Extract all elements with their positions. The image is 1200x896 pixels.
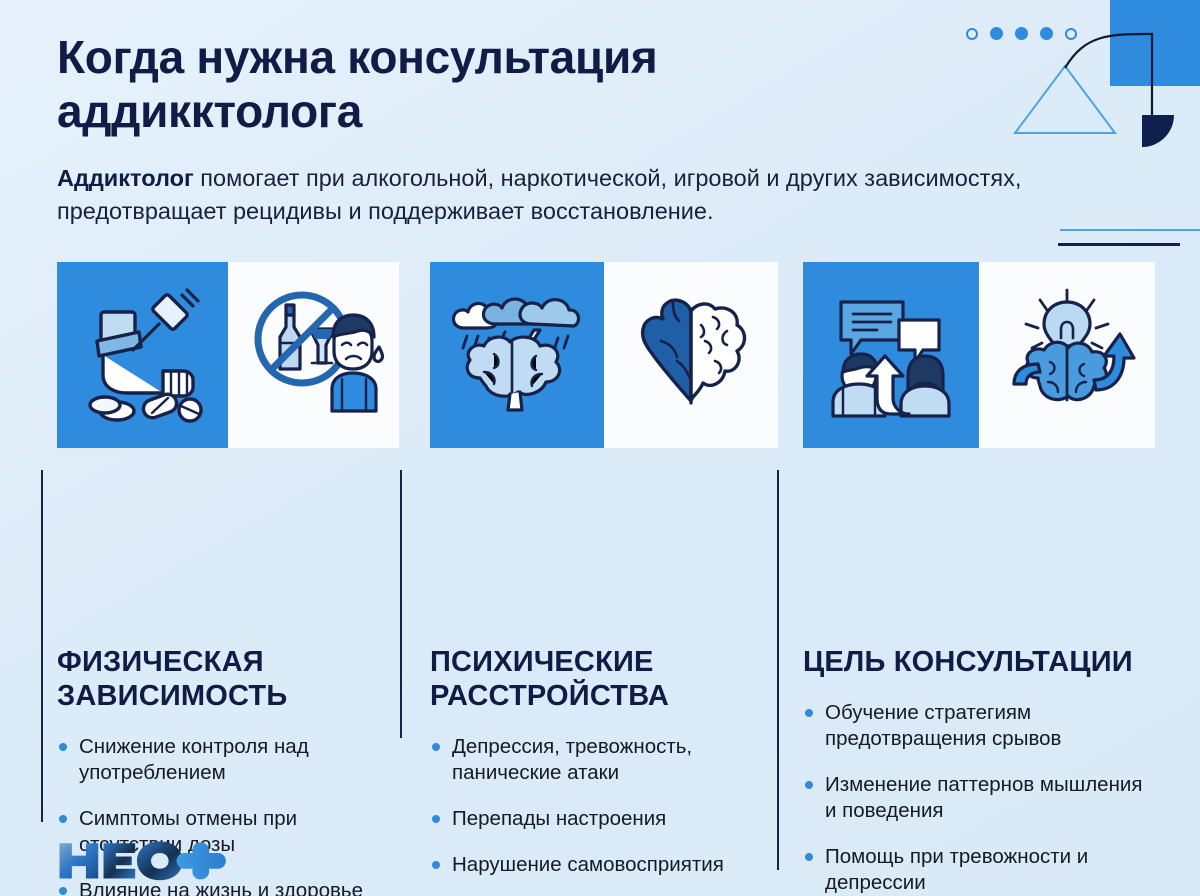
dark-accent-line [1058,243,1180,246]
list-item: Перепады настроения [430,806,778,832]
brain-storm-cloud-icon [430,262,604,448]
arm-syringe-pills-icon [57,262,228,448]
column-mental-disorders: ПСИХИЧЕСКИЕ РАССТРОЙСТВА Депрессия, трев… [430,262,778,896]
blue-square-decoration [1110,0,1200,86]
subtitle-lead-bold: Аддиктолог [57,165,194,191]
list-item: Снижение контроля над употреблением [57,734,399,786]
list-item: Обучение стратегиям предотвращения срыво… [803,700,1155,752]
dot-5-ring-icon [1065,28,1077,40]
column-divider-left [400,470,402,738]
light-accent-line [1060,229,1200,231]
list-item: Помощь при тревожности и депрессии [803,844,1155,896]
column-physical-dependence: ФИЗИЧЕСКАЯ ЗАВИСИМОСТЬ Снижение контроля… [57,262,399,896]
column-heading: ФИЗИЧЕСКАЯ ЗАВИСИМОСТЬ [57,646,399,714]
column-2-image-row [430,262,778,448]
page-subtitle: Аддиктолог помогает при алкогольной, нар… [57,162,1087,229]
two-people-speech-bubbles-icon [803,262,979,448]
dot-4-filled-icon [1040,27,1053,40]
list-item: Депрессия, тревожность, панические атаки [430,734,778,786]
column-heading: ЦЕЛЬ КОНСУЛЬТАЦИИ [803,646,1155,680]
triangle-outline-icon [1015,66,1115,133]
column-3-image-row [803,262,1155,448]
column-divider-left [41,470,43,822]
column-bullet-list: Обучение стратегиям предотвращения срыво… [803,700,1155,896]
infographic-poster: Когда нужна консультация аддикктолога Ад… [0,0,1200,896]
column-bullet-list: Депрессия, тревожность, панические атаки… [430,734,778,878]
column-divider-left [777,470,779,870]
navy-half-disc-icon [1142,115,1174,147]
list-item: Изменение паттернов мышления и поведения [803,772,1155,824]
list-item: Нарушение самовосприятия [430,852,778,878]
brain-lightbulb-arrows-icon [979,262,1155,448]
dots-decoration [966,27,1077,40]
columns-container: ФИЗИЧЕСКАЯ ЗАВИСИМОСТЬ Снижение контроля… [0,262,1200,882]
column-heading: ПСИХИЧЕСКИЕ РАССТРОЙСТВА [430,646,778,714]
heart-brain-halves-icon [604,262,778,448]
page-title: Когда нужна консультация аддикктолога [57,30,937,139]
dot-2-filled-icon [990,27,1003,40]
subtitle-rest: помогает при алкогольной, наркотической,… [57,165,1021,224]
column-1-image-row [57,262,399,448]
dot-1-ring-icon [966,28,978,40]
column-consultation-goal: ЦЕЛЬ КОНСУЛЬТАЦИИ Обучение стратегиям пр… [803,262,1155,896]
neo-plus-logo [55,838,233,882]
dot-3-filled-icon [1015,27,1028,40]
no-alcohol-sad-person-icon [228,262,399,448]
